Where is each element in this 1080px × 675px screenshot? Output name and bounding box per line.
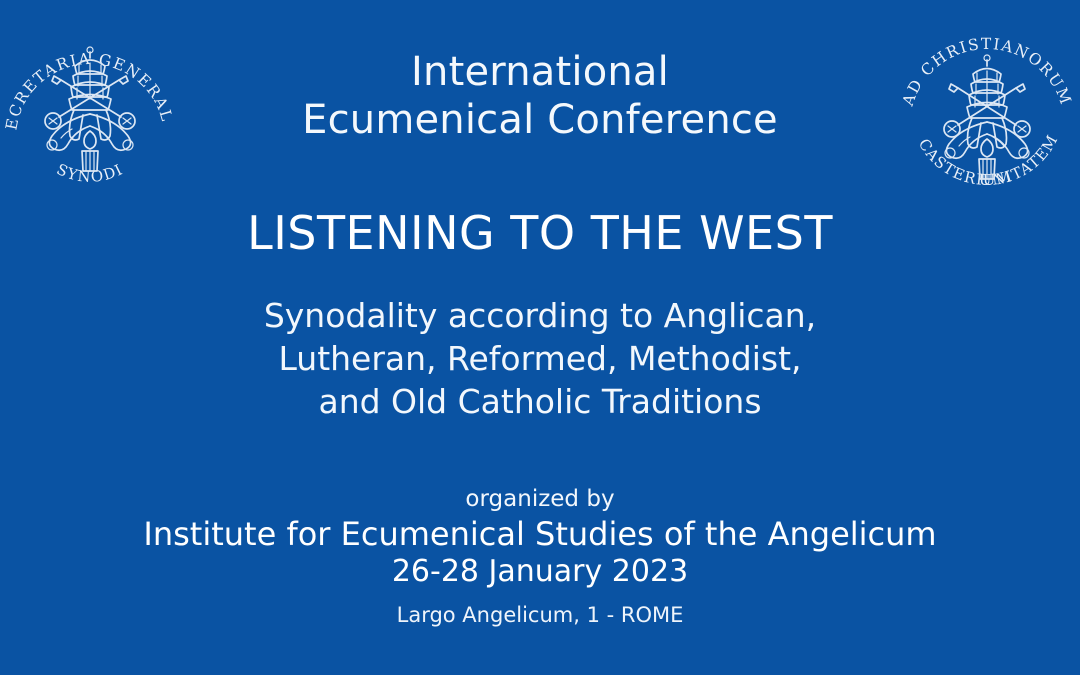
conference-title: International Ecumenical Conference: [0, 48, 1080, 144]
subtitle-line-1: Synodality according to Anglican,: [0, 294, 1080, 337]
organizer-name: Institute for Ecumenical Studies of the …: [0, 514, 1080, 555]
main-headline: LISTENING TO THE WEST: [0, 205, 1080, 261]
conference-poster: SECRETARIA GENERALIS SYNODI: [0, 0, 1080, 675]
event-dates: 26-28 January 2023: [0, 552, 1080, 591]
subtitle-line-3: and Old Catholic Traditions: [0, 380, 1080, 423]
conference-title-line-1: International: [0, 48, 1080, 96]
conference-subtitle: Synodality according to Anglican, Luther…: [0, 294, 1080, 423]
organized-by-label: organized by: [0, 484, 1080, 514]
subtitle-line-2: Lutheran, Reformed, Methodist,: [0, 337, 1080, 380]
conference-title-line-2: Ecumenical Conference: [0, 96, 1080, 144]
event-venue: Largo Angelicum, 1 - ROME: [0, 601, 1080, 629]
